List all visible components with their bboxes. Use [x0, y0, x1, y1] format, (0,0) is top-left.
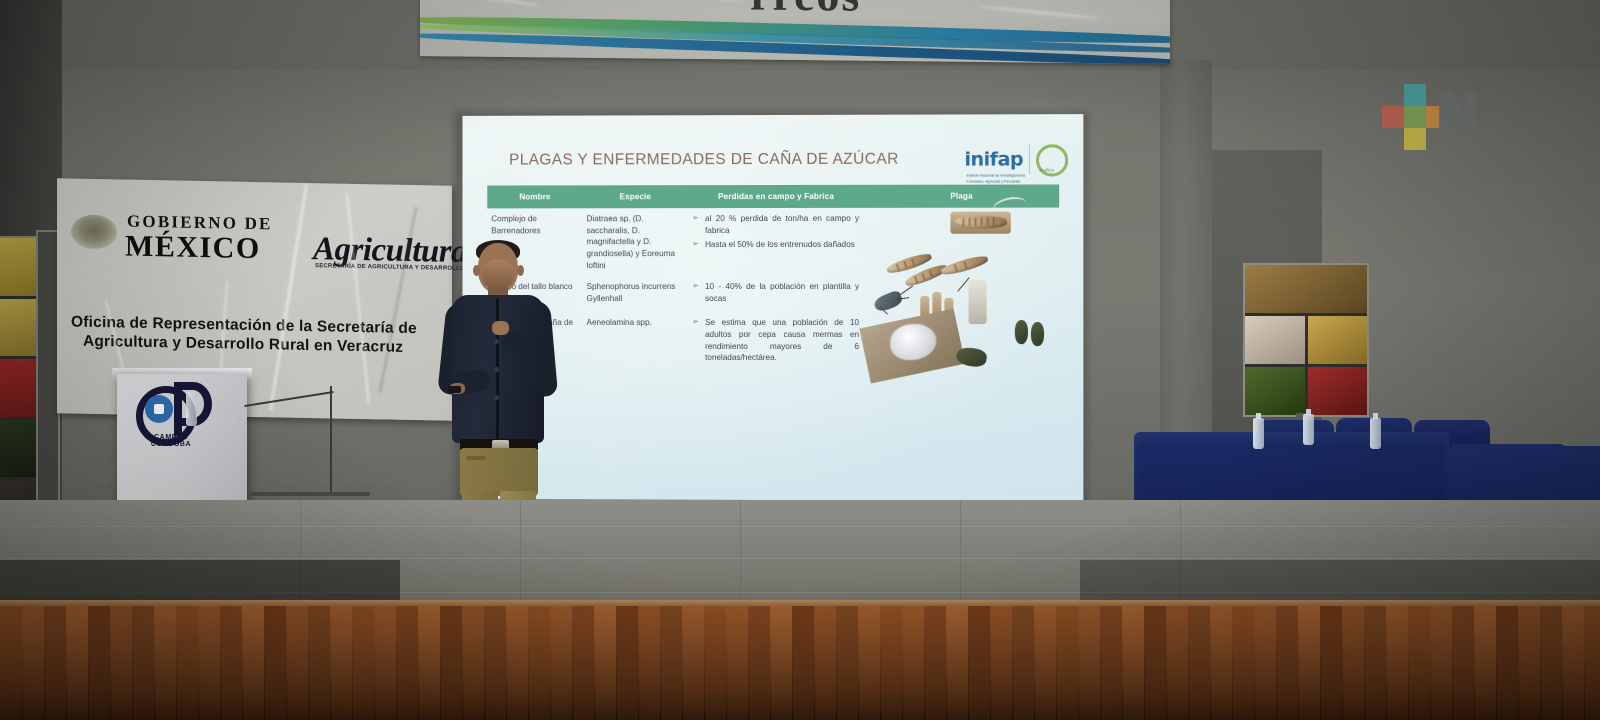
column-header-especie: Especie	[583, 185, 689, 208]
watermark-square-red	[1382, 106, 1404, 128]
banner-wrinkle	[346, 194, 370, 403]
stage-plank	[968, 606, 991, 720]
stage-plank	[1254, 606, 1277, 720]
stage-plank	[946, 606, 969, 720]
bullet-item: al 20 % perdida de ton/ha en campo y fab…	[692, 213, 859, 236]
stage-plank	[1166, 606, 1189, 720]
stage-plank	[1364, 606, 1387, 720]
presenter-shirt-button	[494, 395, 499, 400]
photo-cell	[1308, 316, 1368, 364]
banner-mexico-label: MÉXICO	[125, 230, 261, 267]
water-bottle	[1253, 418, 1264, 449]
stage-plank	[154, 606, 177, 720]
stage-plank	[726, 606, 749, 720]
stage-plank	[1452, 606, 1475, 720]
photo-cell	[1245, 265, 1367, 313]
presentation-room-photo: rreos GOBIERNO DE MÉXICO Agricultura SEC…	[0, 0, 1600, 720]
column-header-nombre: Nombre	[487, 185, 582, 208]
watermark-square-teal	[1404, 84, 1426, 106]
water-bottle	[1370, 418, 1381, 449]
stage-plank	[132, 606, 155, 720]
stage-plank	[1276, 606, 1299, 720]
inifap-sub-line1: Instituto Nacional de Investigaciones	[967, 173, 1026, 179]
stage-plank	[924, 606, 947, 720]
presenter-ear	[473, 265, 480, 276]
cell-perdidas: Se estima que una población de 10 adulto…	[688, 312, 864, 372]
watermark-square-green	[1404, 106, 1426, 128]
podium-logo-caption: CAMPUS CORDOBA	[134, 434, 208, 448]
stage-plank	[1386, 606, 1409, 720]
stage-plank	[1584, 606, 1600, 720]
cell-plaga-image-spittlebug	[864, 312, 1059, 372]
stage-plank	[770, 606, 793, 720]
stage-plank	[462, 606, 485, 720]
watermark-square-yellow	[1404, 128, 1426, 150]
stage-plank	[1540, 606, 1563, 720]
stage-plank	[1430, 606, 1453, 720]
cell-especie: Aeneolamina spp.	[583, 312, 689, 371]
stage-plank	[1474, 606, 1497, 720]
stage-plank	[1078, 606, 1101, 720]
adult-spittlebug-art	[1015, 321, 1028, 345]
bullet-item: Hasta el 50% de los entrenudos dañados	[692, 239, 859, 251]
stage-plank	[484, 606, 507, 720]
column-header-plaga: Plaga	[864, 184, 1059, 207]
stage-plank	[330, 606, 353, 720]
stage-plank	[880, 606, 903, 720]
stage-plank	[638, 606, 661, 720]
larva-art	[940, 253, 989, 277]
stage-plank	[264, 606, 287, 720]
cell-especie: Sphenophorus incurrens Gyllenhall	[583, 276, 689, 312]
cell-especie: Diatraea sp. (D. saccharalis, D. magnifa…	[583, 208, 689, 276]
stage-plank	[242, 606, 265, 720]
stage-plank	[1144, 606, 1167, 720]
stage-plank	[682, 606, 705, 720]
banner-plastic-shine	[450, 0, 540, 8]
stage-plank	[1034, 606, 1057, 720]
stage-plank	[616, 606, 639, 720]
stage-plank	[1320, 606, 1343, 720]
presenter-shirt-button	[494, 367, 499, 372]
banner-wrinkle	[269, 184, 308, 411]
stage-plank	[0, 606, 23, 720]
mexican-eagle-crest-icon	[71, 214, 117, 249]
stage-plank	[44, 606, 67, 720]
stage-plank	[1100, 606, 1123, 720]
photo-cell	[1245, 367, 1305, 415]
stage-plank	[748, 606, 771, 720]
watermark-letter-n: N	[1434, 86, 1481, 142]
table-header-row: Nombre Especie Perdidas en campo y Fabri…	[487, 184, 1059, 208]
stage-plank	[792, 606, 815, 720]
weevil-snout-art	[899, 286, 913, 296]
bullet-item: Se estima que una población de 10 adulto…	[692, 317, 859, 364]
stage-plank	[1012, 606, 1035, 720]
microphone-stand	[330, 386, 332, 496]
stage-plank	[836, 606, 859, 720]
stage-plank	[198, 606, 221, 720]
presenter-right-hand	[492, 321, 509, 335]
stage-plank	[286, 606, 309, 720]
stage-plank	[858, 606, 881, 720]
stage-plank	[352, 606, 375, 720]
stage-plank	[1122, 606, 1145, 720]
banner-plastic-shine	[980, 5, 1100, 21]
table-row: Complejo de Barrenadores Diatraea sp. (D…	[487, 208, 1059, 277]
stage-plank	[22, 606, 45, 720]
stage-plank	[550, 606, 573, 720]
stage-plank	[1210, 606, 1233, 720]
inifap-divider	[1029, 144, 1030, 174]
column-header-perdidas: Perdidas en campo y Fabrica	[688, 185, 864, 208]
overhead-banner-text: rreos	[750, 0, 861, 22]
stage-plank	[66, 606, 89, 720]
stage-plank	[902, 606, 925, 720]
stage-plank	[594, 606, 617, 720]
photo-cell	[1245, 316, 1305, 364]
stage-plank	[88, 606, 111, 720]
stage-plank	[308, 606, 331, 720]
stage-plank	[572, 606, 595, 720]
stage-plank	[1562, 606, 1585, 720]
inifap-wordmark: inifap	[965, 148, 1024, 170]
logo-center-dot-icon	[154, 404, 164, 414]
presenter-shirt-button	[494, 339, 499, 344]
cell-plaga-image-borers	[864, 208, 1059, 277]
presenter-remote-clicker[interactable]	[448, 386, 461, 393]
adult-spittlebug-art	[955, 347, 987, 369]
stage-plank	[1342, 606, 1365, 720]
stage-plank	[1232, 606, 1255, 720]
anniversary-label: 40 AÑOS	[1039, 168, 1054, 172]
stage-plank	[990, 606, 1013, 720]
stage-plank	[704, 606, 727, 720]
cell-perdidas: 10 - 40% de la población en plantilla y …	[688, 276, 864, 312]
podium-water-bottle	[186, 392, 197, 426]
stage-plank	[176, 606, 199, 720]
stage-plank	[660, 606, 683, 720]
water-bottle	[1303, 414, 1314, 445]
stage-plank	[374, 606, 397, 720]
stage-front-planks	[0, 606, 1600, 720]
stage-plank	[1188, 606, 1211, 720]
slide-title: PLAGAS Y ENFERMEDADES DE CAÑA DE AZÚCAR	[509, 151, 899, 170]
stage-plank	[1496, 606, 1519, 720]
stage-plank	[814, 606, 837, 720]
stage-plank	[220, 606, 243, 720]
inifap-logo: inifap Instituto Nacional de Investigaci…	[965, 140, 1066, 178]
presenter-face	[482, 259, 514, 289]
overhead-event-banner: rreos	[420, 0, 1170, 64]
cell-plaga-image-weevil	[864, 276, 1059, 312]
stage-plank	[440, 606, 463, 720]
table-row: Picudo del tallo blanco Sphenophorus inc…	[487, 276, 1059, 312]
microphone-base	[250, 492, 370, 496]
tv-channel-watermark: N	[1382, 82, 1500, 148]
stage-plank	[1056, 606, 1079, 720]
stage-plank	[1298, 606, 1321, 720]
photo-cell	[1308, 367, 1368, 415]
stage-plank	[1518, 606, 1541, 720]
stage-plank	[396, 606, 419, 720]
stage-plank	[506, 606, 529, 720]
stage-plank	[418, 606, 441, 720]
stage-plank	[1408, 606, 1431, 720]
inifap-anniversary-badge: 40 AÑOS	[1036, 142, 1065, 176]
presenter-ear	[517, 265, 524, 276]
cell-perdidas: al 20 % perdida de ton/ha en campo y fab…	[688, 208, 864, 276]
stage-plank	[528, 606, 551, 720]
right-produce-photo-panel	[1243, 263, 1369, 417]
adult-spittlebug-art	[1031, 323, 1044, 347]
pests-table: Nombre Especie Perdidas en campo y Fabri…	[487, 184, 1059, 372]
stage-plank	[110, 606, 133, 720]
bullet-item: 10 - 40% de la población en plantilla y …	[692, 281, 859, 304]
table-row: Salivazo de la caña de azúcar Aeneolamin…	[487, 312, 1059, 372]
presenter-trouser-pocket	[466, 456, 486, 460]
